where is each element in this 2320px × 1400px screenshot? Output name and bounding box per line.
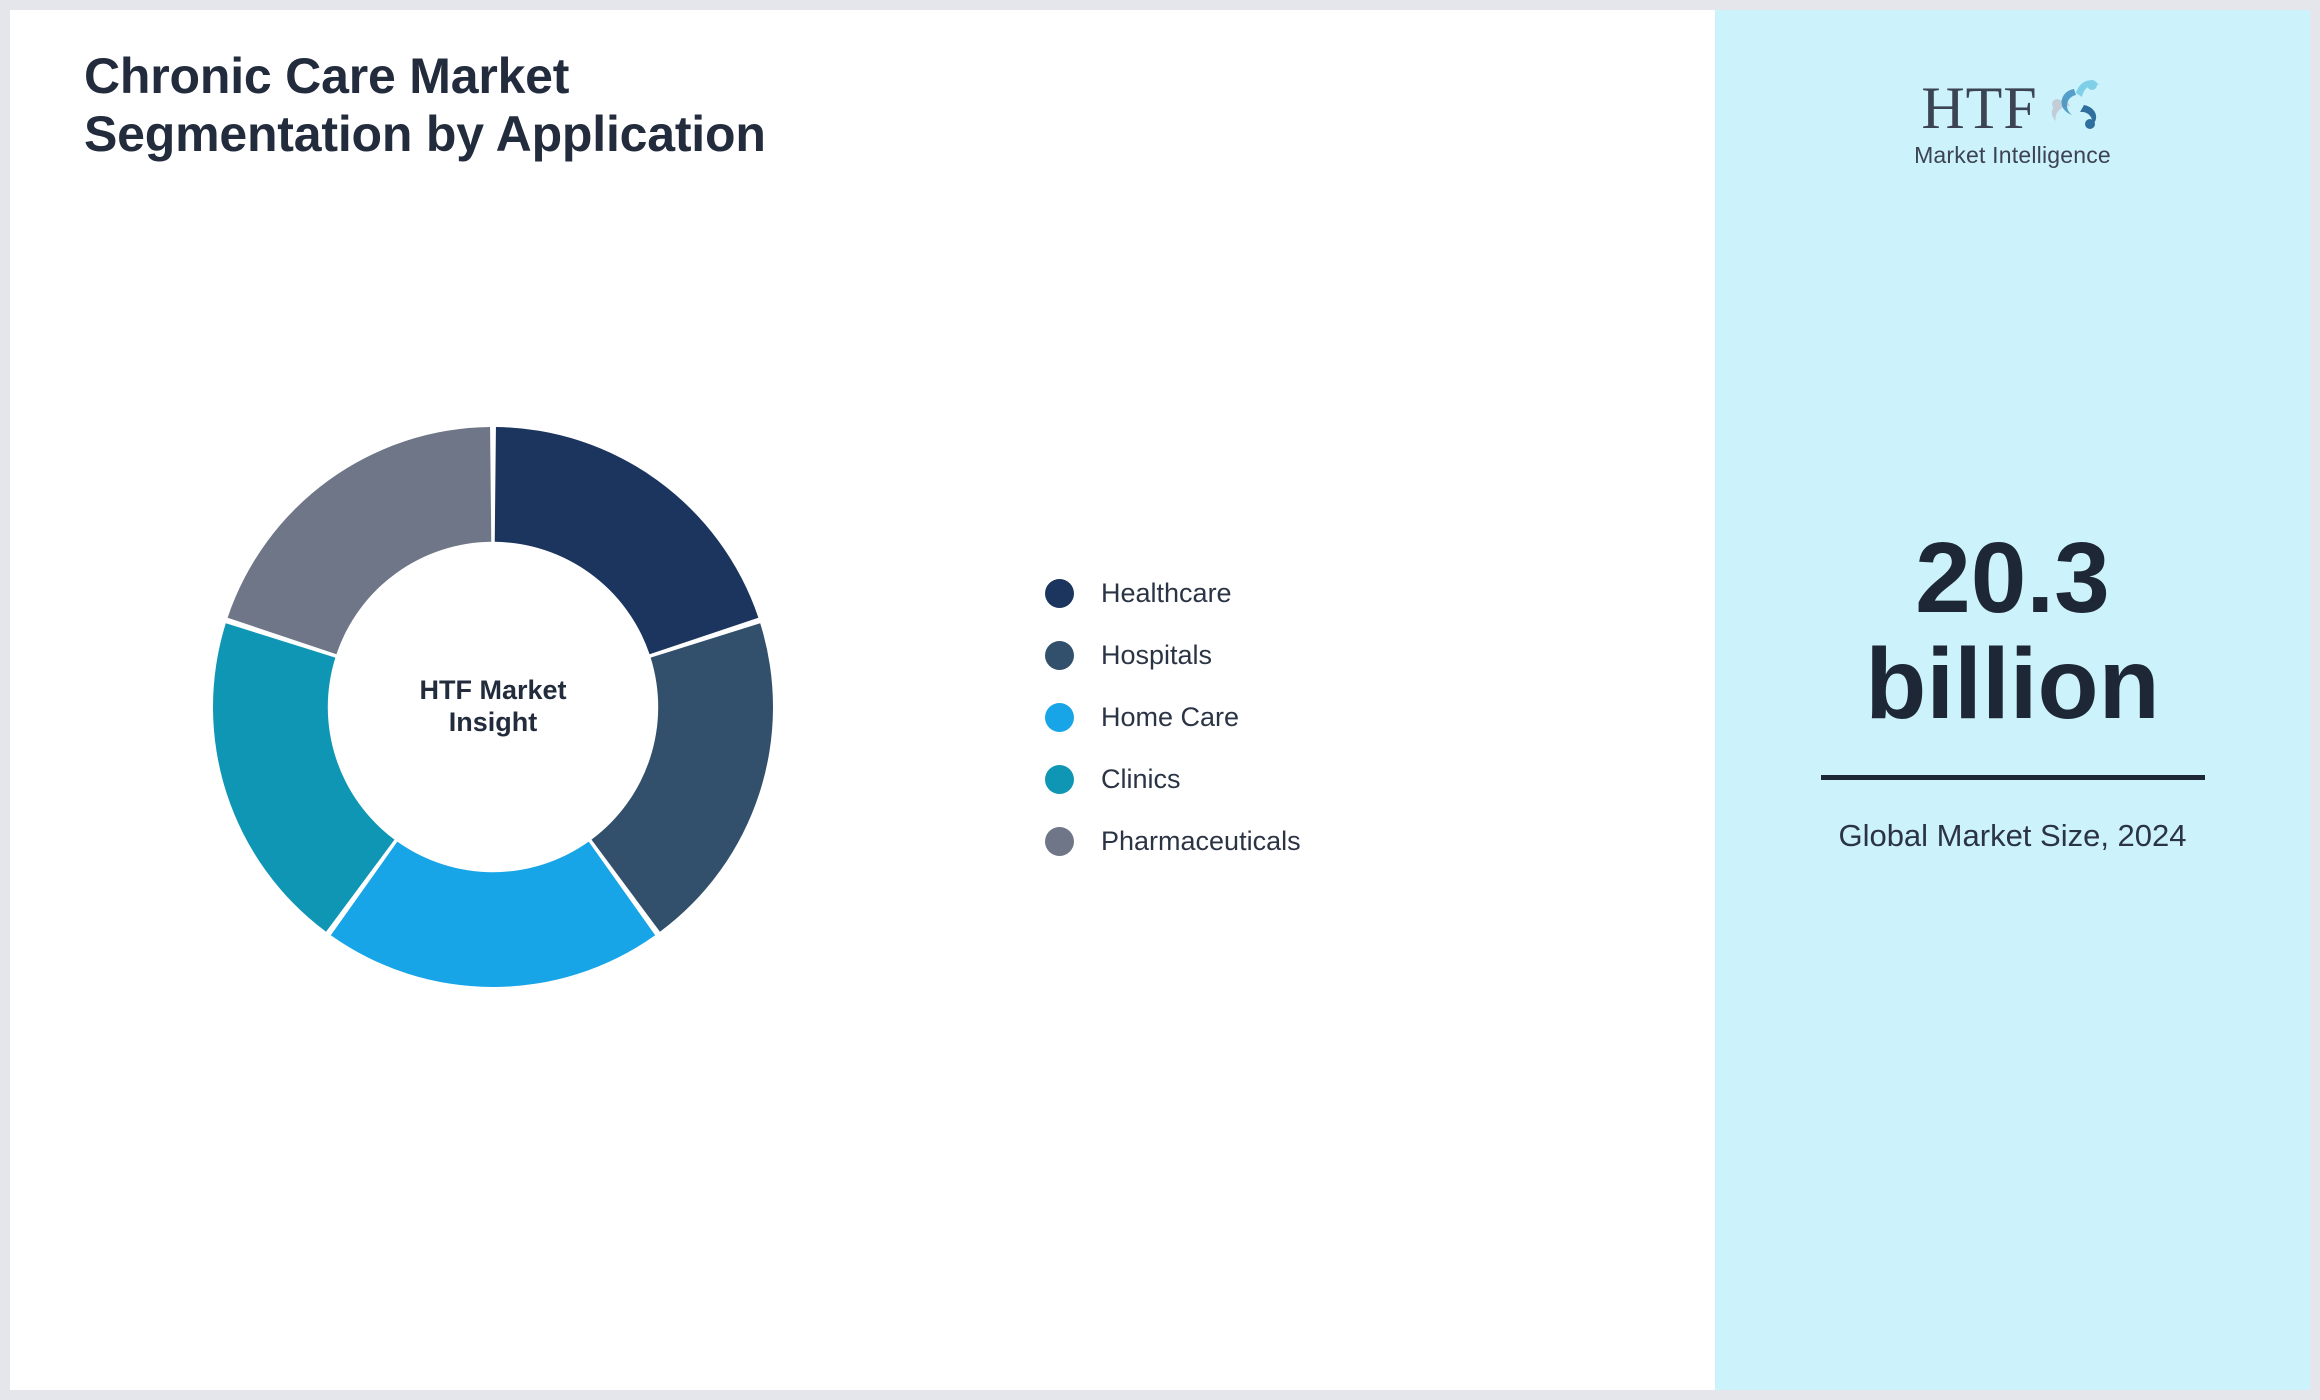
donut-chart: HTF Market Insight bbox=[213, 427, 773, 987]
page-title: Chronic Care Market Segmentation by Appl… bbox=[84, 48, 1084, 163]
donut-slice[interactable] bbox=[228, 427, 492, 654]
brand-wordmark: HTF bbox=[1921, 78, 2037, 138]
donut-slice[interactable] bbox=[495, 427, 759, 654]
legend-swatch-icon bbox=[1045, 765, 1074, 794]
stat-block: 20.3 billion Global Market Size, 2024 bbox=[1715, 525, 2310, 857]
sidebar: HTF bbox=[1715, 10, 2310, 1390]
brand-tagline: Market Intelligence bbox=[1914, 142, 2111, 169]
legend-item[interactable]: Home Care bbox=[1045, 686, 1301, 748]
stat-caption: Global Market Size, 2024 bbox=[1798, 816, 2228, 857]
main-panel: Chronic Care Market Segmentation by Appl… bbox=[10, 10, 1715, 1390]
legend-item[interactable]: Hospitals bbox=[1045, 624, 1301, 686]
legend-swatch-icon bbox=[1045, 579, 1074, 608]
legend-label: Healthcare bbox=[1101, 578, 1232, 609]
infographic-card: Chronic Care Market Segmentation by Appl… bbox=[0, 0, 2320, 1400]
legend-swatch-icon bbox=[1045, 641, 1074, 670]
chart-legend: HealthcareHospitalsHome CareClinicsPharm… bbox=[1045, 562, 1301, 872]
donut-slice[interactable] bbox=[331, 842, 655, 987]
stat-value: 20.3 billion bbox=[1715, 525, 2310, 737]
three-people-swirl-icon bbox=[2042, 71, 2104, 136]
legend-item[interactable]: Healthcare bbox=[1045, 562, 1301, 624]
legend-label: Clinics bbox=[1101, 764, 1181, 795]
legend-swatch-icon bbox=[1045, 827, 1074, 856]
legend-swatch-icon bbox=[1045, 703, 1074, 732]
legend-label: Home Care bbox=[1101, 702, 1239, 733]
legend-label: Pharmaceuticals bbox=[1101, 826, 1301, 857]
legend-label: Hospitals bbox=[1101, 640, 1212, 671]
donut-chart-svg bbox=[213, 427, 773, 987]
legend-item[interactable]: Clinics bbox=[1045, 748, 1301, 810]
stat-divider bbox=[1821, 775, 2205, 780]
brand-logo-top: HTF bbox=[1921, 72, 2103, 138]
legend-item[interactable]: Pharmaceuticals bbox=[1045, 810, 1301, 872]
brand-logo: HTF bbox=[1715, 72, 2310, 169]
